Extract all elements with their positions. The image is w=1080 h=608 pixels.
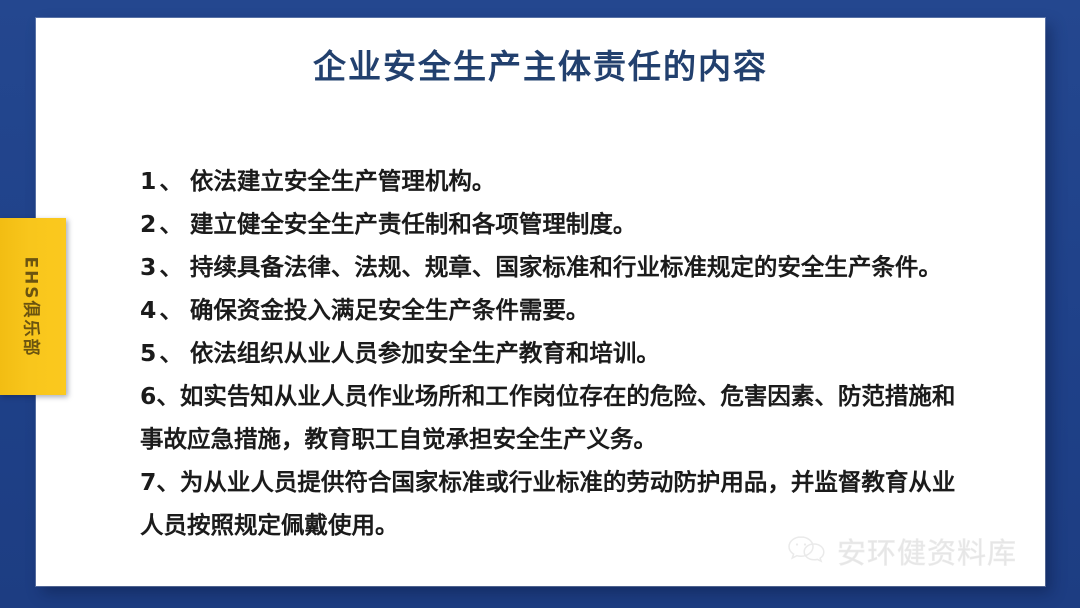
slide-content-card: 企业安全生产主体责任的内容 1、依法建立安全生产管理机构。 2、建立健全安全生产… bbox=[36, 18, 1045, 586]
list-item-number: 6、 bbox=[140, 382, 180, 410]
side-tab-ehs-club[interactable]: EHS俱乐部 bbox=[0, 218, 66, 395]
side-tab-label: EHS俱乐部 bbox=[21, 256, 46, 357]
page-title: 企业安全生产主体责任的内容 bbox=[36, 40, 1045, 88]
list-item-text: 持续具备法律、法规、规章、国家标准和行业标准规定的安全生产条件。 bbox=[190, 253, 942, 281]
list-item-number: 3、 bbox=[140, 253, 190, 281]
list-item: 2、建立健全安全生产责任制和各项管理制度。 bbox=[140, 203, 985, 246]
list-item-continuation: 事故应急措施，教育职工自觉承担安全生产义务。 bbox=[140, 418, 985, 461]
list-item-text: 依法组织从业人员参加安全生产教育和培训。 bbox=[190, 339, 660, 367]
list-item: 3、持续具备法律、法规、规章、国家标准和行业标准规定的安全生产条件。 bbox=[140, 246, 985, 289]
list-item-text: 如实告知从业人员作业场所和工作岗位存在的危险、危害因素、防范措施和 bbox=[180, 382, 956, 410]
slide-frame: 企业安全生产主体责任的内容 1、依法建立安全生产管理机构。 2、建立健全安全生产… bbox=[0, 0, 1080, 608]
list-item-text: 为从业人员提供符合国家标准或行业标准的劳动防护用品，并监督教育从业 bbox=[180, 468, 956, 496]
list-item-number: 7、 bbox=[140, 468, 180, 496]
list-item-number: 1、 bbox=[140, 167, 190, 195]
list-item: 5、依法组织从业人员参加安全生产教育和培训。 bbox=[140, 332, 985, 375]
responsibility-list: 1、依法建立安全生产管理机构。 2、建立健全安全生产责任制和各项管理制度。 3、… bbox=[140, 160, 985, 547]
list-item-number: 4、 bbox=[140, 296, 190, 324]
list-item-text: 依法建立安全生产管理机构。 bbox=[190, 167, 496, 195]
list-item: 6、如实告知从业人员作业场所和工作岗位存在的危险、危害因素、防范措施和 事故应急… bbox=[140, 375, 985, 461]
watermark-text: 安环健资料库 bbox=[837, 530, 1017, 572]
list-item: 4、确保资金投入满足安全生产条件需要。 bbox=[140, 289, 985, 332]
list-item: 1、依法建立安全生产管理机构。 bbox=[140, 160, 985, 203]
list-item-number: 5、 bbox=[140, 339, 190, 367]
wechat-bubbles-icon bbox=[786, 533, 828, 570]
list-item-text: 建立健全安全生产责任制和各项管理制度。 bbox=[190, 210, 637, 238]
watermark: 安环健资料库 bbox=[786, 530, 1017, 572]
list-item-text: 确保资金投入满足安全生产条件需要。 bbox=[190, 296, 590, 324]
list-item-number: 2、 bbox=[140, 210, 190, 238]
